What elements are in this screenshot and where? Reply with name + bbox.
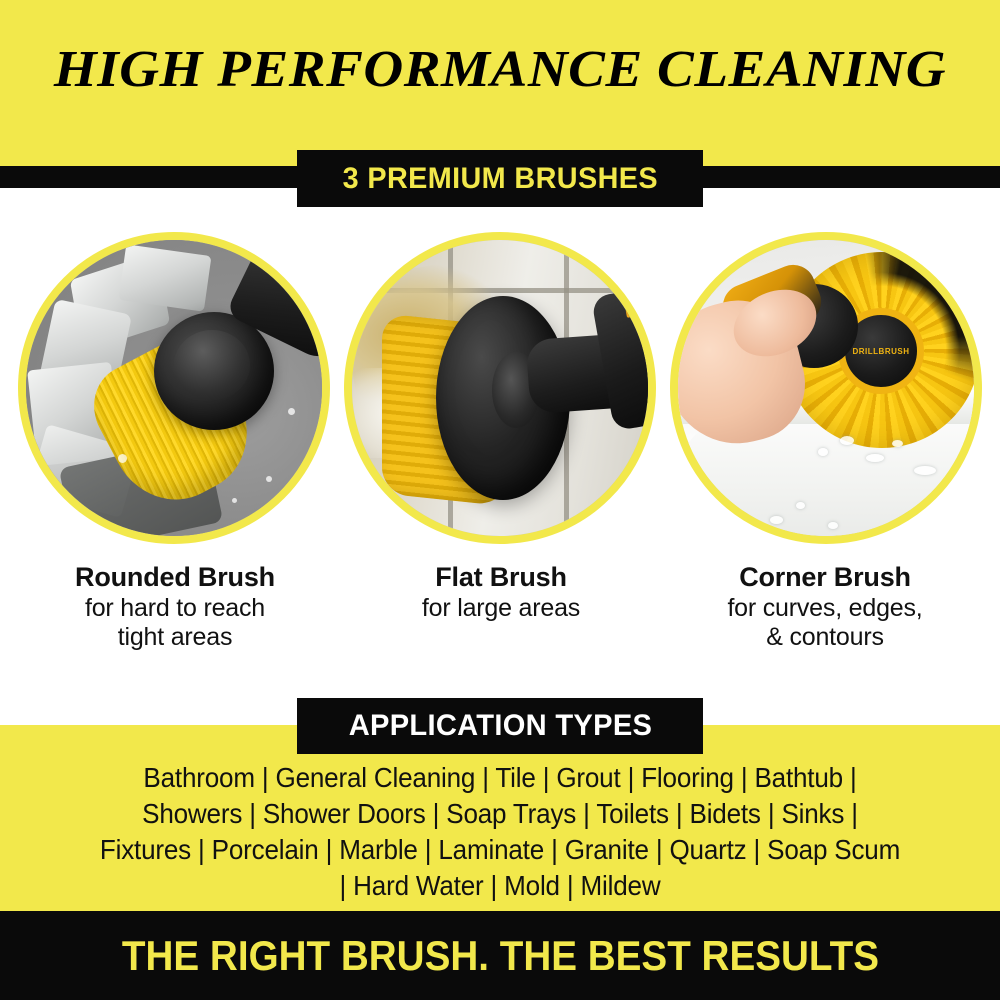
brush-card-flat (344, 232, 656, 544)
product-infographic: HIGH PERFORMANCE CLEANING 3 PREMIUM BRUS… (0, 0, 1000, 1000)
ribbon-application-types: APPLICATION TYPES (297, 698, 703, 754)
application-types-list: Bathroom | General Cleaning | Tile | Gro… (0, 760, 1000, 904)
ribbon-premium-brushes: 3 PREMIUM BRUSHES (297, 150, 703, 207)
rounded-brush-photo (18, 232, 330, 544)
caption-title: Rounded Brush (10, 562, 340, 594)
drill-marking (647, 354, 656, 374)
ribbon-premium-brushes-label: 3 PREMIUM BRUSHES (342, 162, 657, 196)
caption-subtitle-line2: tight areas (10, 623, 340, 653)
caption-flat-brush: Flat Brush for large areas (336, 562, 666, 623)
water-droplet (232, 498, 237, 503)
page-title: HIGH PERFORMANCE CLEANING (0, 44, 1000, 96)
water-splash (892, 440, 903, 447)
caption-rounded-brush: Rounded Brush for hard to reach tight ar… (10, 562, 340, 653)
water-splash (840, 436, 854, 445)
water-splash (818, 448, 828, 456)
water-droplet (118, 454, 127, 463)
footer-banner: THE RIGHT BRUSH. THE BEST RESULTS (0, 911, 1000, 1000)
water-splash (866, 454, 884, 462)
footer-tagline: THE RIGHT BRUSH. THE BEST RESULTS (121, 932, 878, 980)
water-droplet (288, 408, 295, 415)
caption-subtitle-line1: for hard to reach (10, 594, 340, 624)
brush-hub (154, 312, 274, 430)
brush-photo-row: DRILLBRUSH (0, 232, 1000, 544)
water-splash (914, 466, 936, 475)
ribbon-application-types-label: APPLICATION TYPES (348, 709, 652, 743)
application-line: Showers | Shower Doors | Soap Trays | To… (35, 796, 965, 832)
application-line: | Hard Water | Mold | Mildew (35, 868, 965, 904)
caption-subtitle-line1: for large areas (336, 594, 666, 624)
water-splash (770, 516, 783, 524)
water-droplet (310, 446, 315, 451)
water-splash (796, 502, 805, 509)
application-line: Bathroom | General Cleaning | Tile | Gro… (35, 760, 965, 796)
water-splash (828, 522, 838, 529)
brush-captions-row: Rounded Brush for hard to reach tight ar… (0, 562, 1000, 672)
grime-chunk (119, 244, 212, 311)
brush-card-corner: DRILLBRUSH (670, 232, 982, 544)
corner-brush-photo: DRILLBRUSH (670, 232, 982, 544)
caption-subtitle-line1: for curves, edges, (660, 594, 990, 624)
caption-title: Flat Brush (336, 562, 666, 594)
application-line: Fixtures | Porcelain | Marble | Laminate… (35, 832, 965, 868)
flat-brush-photo (344, 232, 656, 544)
caption-corner-brush: Corner Brush for curves, edges, & contou… (660, 562, 990, 653)
caption-subtitle-line2: & contours (660, 623, 990, 653)
water-droplet (266, 476, 272, 482)
caption-title: Corner Brush (660, 562, 990, 594)
brush-card-rounded (18, 232, 330, 544)
